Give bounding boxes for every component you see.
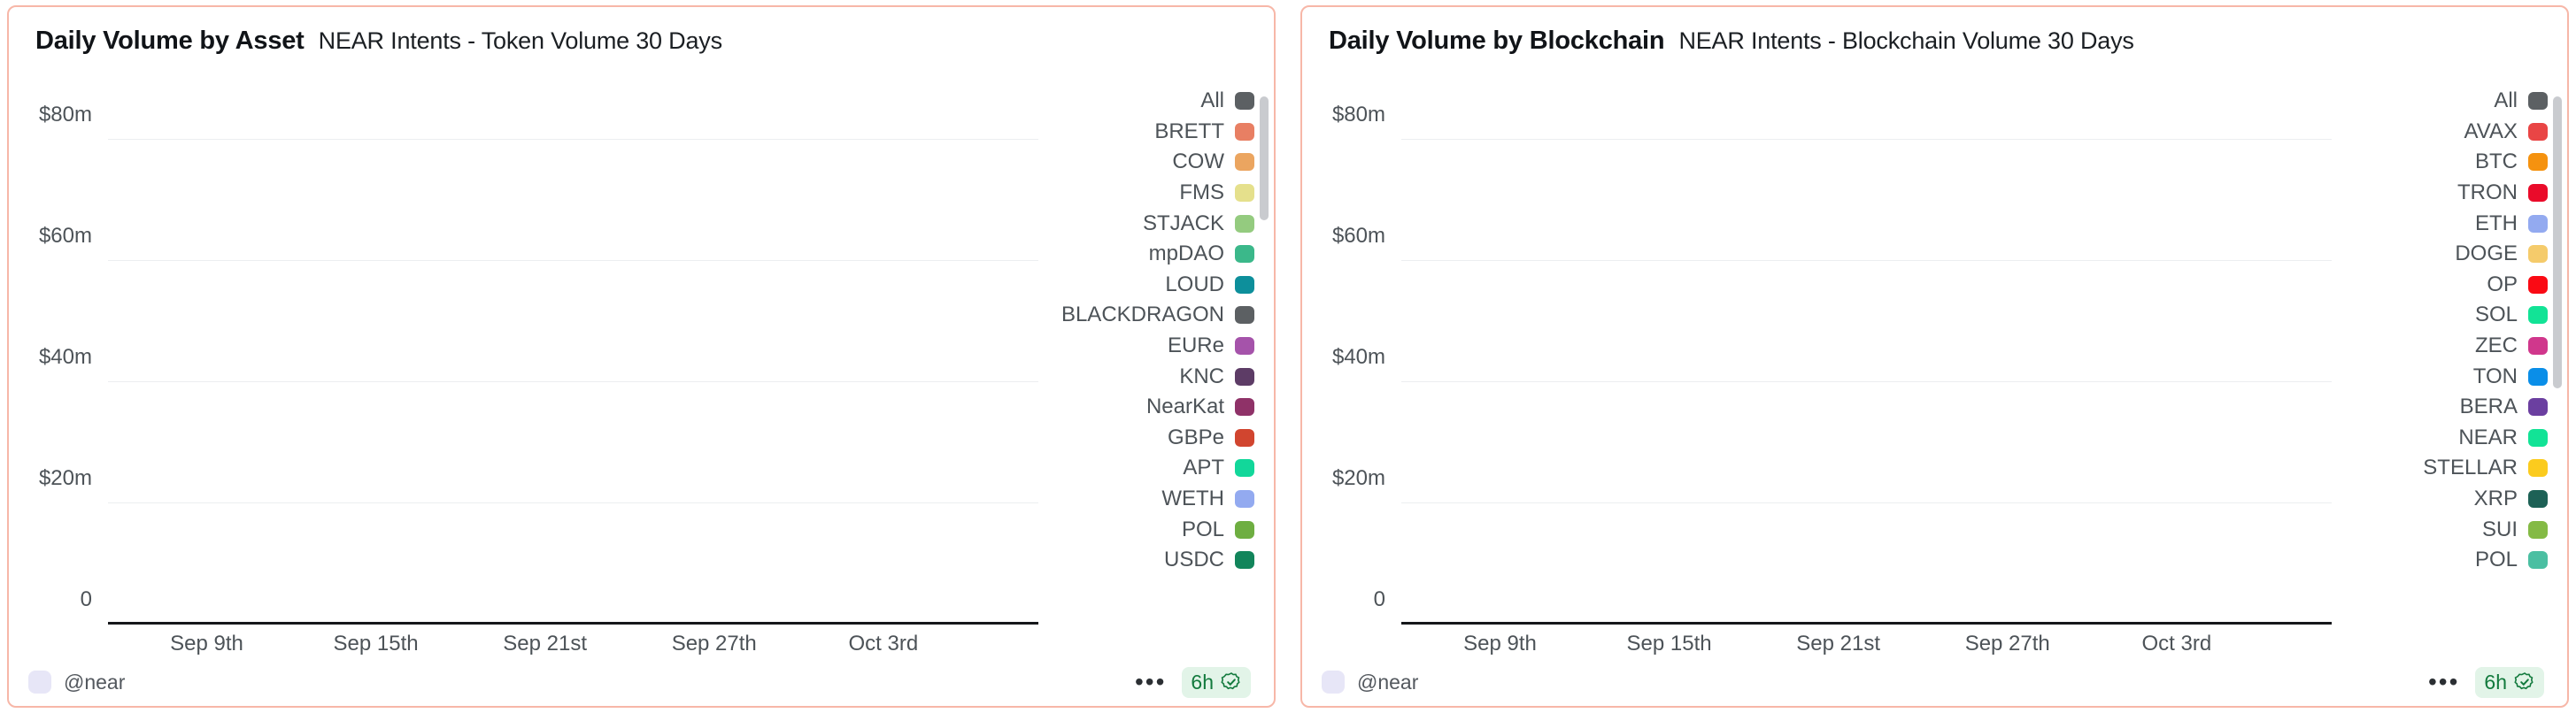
legend-item[interactable]: NearKat bbox=[1054, 392, 1254, 423]
legend-color-swatch bbox=[1235, 123, 1254, 141]
legend-item-label: OP bbox=[2487, 272, 2518, 297]
refresh-interval-badge[interactable]: 6h bbox=[1182, 667, 1251, 698]
refresh-interval-label: 6h bbox=[1191, 671, 1214, 694]
refresh-interval-label-blockchain: 6h bbox=[2484, 671, 2507, 694]
page-title-blockchain: Daily Volume by Blockchain bbox=[1329, 27, 1664, 56]
legend-item-label: WETH bbox=[1161, 487, 1224, 511]
legend-color-swatch bbox=[1235, 184, 1254, 202]
card-header-asset: Daily Volume by Asset NEAR Intents - Tok… bbox=[9, 7, 1274, 59]
card-footer-asset: @near ••• 6h bbox=[9, 658, 1274, 706]
legend-item[interactable]: COW bbox=[1054, 147, 1254, 178]
legend-color-swatch bbox=[2528, 398, 2548, 416]
legend-color-swatch bbox=[2528, 153, 2548, 171]
legend-item[interactable]: All bbox=[2348, 86, 2548, 117]
legend-color-swatch bbox=[1235, 306, 1254, 324]
legend-color-swatch bbox=[2528, 184, 2548, 202]
page-title: Daily Volume by Asset bbox=[35, 27, 305, 56]
legend-item[interactable]: TON bbox=[2348, 361, 2548, 392]
legend-item[interactable]: ETH bbox=[2348, 208, 2548, 239]
legend-color-swatch bbox=[2528, 337, 2548, 355]
legend-list-blockchain[interactable]: AllAVAXBTCTRONETHDOGEOPSOLZECTONBERANEAR… bbox=[2348, 86, 2548, 652]
legend-color-swatch bbox=[2528, 215, 2548, 233]
legend-item[interactable]: STJACK bbox=[1054, 208, 1254, 239]
legend-item[interactable]: BERA bbox=[2348, 392, 2548, 423]
avatar-blockchain bbox=[1322, 671, 1345, 694]
legend-color-swatch bbox=[2528, 368, 2548, 386]
legend-item[interactable]: XRP bbox=[2348, 484, 2548, 515]
legend-item-label: All bbox=[1200, 88, 1224, 113]
legend-color-swatch bbox=[1235, 368, 1254, 386]
card-body-asset: 0$20m$40m$60m$80m Sep 9thSep 15thSep 21s… bbox=[9, 59, 1274, 706]
author-name: @near bbox=[64, 671, 125, 694]
x-axis-tick-label: Oct 3rd bbox=[2141, 632, 2211, 656]
card-footer-blockchain: @near ••• 6h bbox=[1302, 658, 2567, 706]
legend-item[interactable]: DOGE bbox=[2348, 239, 2548, 270]
legend-item[interactable]: POL bbox=[1054, 514, 1254, 545]
more-options-button[interactable]: ••• bbox=[1135, 675, 1166, 690]
legend-item-label: ZEC bbox=[2475, 333, 2518, 358]
legend-item-label: STELLAR bbox=[2423, 456, 2518, 480]
legend-item-label: NEAR bbox=[2458, 425, 2518, 450]
y-axis-tick-label: 0 bbox=[81, 587, 92, 612]
legend-asset[interactable]: AllBRETTCOWFMSSTJACKmpDAOLOUDBLACKDRAGON… bbox=[1054, 59, 1274, 706]
legend-color-swatch bbox=[1235, 551, 1254, 569]
author-block-blockchain[interactable]: @near bbox=[1322, 671, 1418, 694]
legend-item-label: POL bbox=[2475, 548, 2518, 572]
author-block[interactable]: @near bbox=[28, 671, 125, 694]
legend-item[interactable]: All bbox=[1054, 86, 1254, 117]
refresh-interval-badge-blockchain[interactable]: 6h bbox=[2475, 667, 2544, 698]
legend-color-swatch bbox=[1235, 276, 1254, 294]
footer-controls-blockchain: ••• 6h bbox=[2428, 667, 2544, 698]
x-axis-line bbox=[1401, 622, 2332, 625]
x-axis-tick-label: Sep 21st bbox=[503, 632, 587, 656]
y-axis-tick-label: $40m bbox=[39, 345, 92, 370]
legend-item[interactable]: ZEC bbox=[2348, 331, 2548, 362]
plot-area-blockchain: 0$20m$40m$60m$80m Sep 9thSep 15thSep 21s… bbox=[1302, 59, 2348, 706]
legend-color-swatch bbox=[1235, 215, 1254, 233]
y-axis-tick-label: $80m bbox=[1332, 103, 1385, 127]
y-axis-labels-blockchain: 0$20m$40m$60m$80m bbox=[1302, 79, 1394, 625]
x-axis-tick-label: Sep 9th bbox=[170, 632, 243, 656]
legend-item-label: BRETT bbox=[1154, 119, 1224, 144]
legend-item[interactable]: SOL bbox=[2348, 300, 2548, 331]
legend-color-swatch bbox=[2528, 521, 2548, 539]
legend-item[interactable]: BLACKDRAGON bbox=[1054, 300, 1254, 331]
legend-item[interactable]: KNC bbox=[1054, 361, 1254, 392]
legend-item[interactable]: TRON bbox=[2348, 178, 2548, 209]
legend-item[interactable]: SUI bbox=[2348, 514, 2548, 545]
x-axis-tick-label: Sep 27th bbox=[672, 632, 757, 656]
legend-item-label: TRON bbox=[2457, 180, 2518, 205]
legend-item-label: KNC bbox=[1179, 364, 1224, 389]
legend-color-swatch bbox=[2528, 459, 2548, 477]
legend-item-label: NearKat bbox=[1146, 395, 1224, 419]
legend-scrollbar[interactable] bbox=[1260, 96, 1269, 220]
bars-container bbox=[1401, 79, 2332, 625]
x-axis-tick-label: Sep 15th bbox=[334, 632, 419, 656]
legend-color-swatch bbox=[2528, 123, 2548, 141]
verified-check-icon-blockchain bbox=[2514, 671, 2535, 693]
legend-item[interactable]: OP bbox=[2348, 270, 2548, 301]
legend-color-swatch bbox=[2528, 92, 2548, 110]
legend-item-label: USDC bbox=[1164, 548, 1224, 572]
legend-item[interactable]: LOUD bbox=[1054, 270, 1254, 301]
x-axis-line bbox=[108, 622, 1038, 625]
legend-item[interactable]: EURe bbox=[1054, 331, 1254, 362]
legend-color-swatch bbox=[1235, 429, 1254, 447]
legend-item-label: POL bbox=[1182, 517, 1224, 542]
legend-item[interactable]: WETH bbox=[1054, 484, 1254, 515]
y-axis-tick-label: $80m bbox=[39, 103, 92, 127]
legend-item-label: DOGE bbox=[2455, 241, 2518, 266]
legend-item-label: LOUD bbox=[1165, 272, 1224, 297]
legend-item-label: BLACKDRAGON bbox=[1061, 303, 1224, 327]
legend-item[interactable]: BRETT bbox=[1054, 117, 1254, 148]
legend-item-label: EURe bbox=[1168, 333, 1224, 358]
dashboard-board: Daily Volume by Asset NEAR Intents - Tok… bbox=[0, 0, 2576, 713]
legend-color-swatch bbox=[1235, 92, 1254, 110]
legend-item-label: APT bbox=[1183, 456, 1224, 480]
chart-card-blockchain: Daily Volume by Blockchain NEAR Intents … bbox=[1300, 5, 2569, 708]
x-axis-labels: Sep 9thSep 15thSep 21stSep 27thOct 3rd bbox=[108, 632, 1038, 662]
legend-color-swatch bbox=[2528, 490, 2548, 508]
legend-item[interactable]: mpDAO bbox=[1054, 239, 1254, 270]
legend-item[interactable]: AVAX bbox=[2348, 117, 2548, 148]
footer-controls: ••• 6h bbox=[1135, 667, 1251, 698]
legend-color-swatch bbox=[2528, 245, 2548, 263]
y-axis-tick-label: $20m bbox=[1332, 466, 1385, 491]
legend-item[interactable]: GBPe bbox=[1054, 423, 1254, 454]
legend-item-label: TON bbox=[2473, 364, 2518, 389]
plot-area-asset: 0$20m$40m$60m$80m Sep 9thSep 15thSep 21s… bbox=[9, 59, 1054, 706]
x-axis-tick-label: Sep 21st bbox=[1796, 632, 1880, 656]
y-axis-tick-label: $20m bbox=[39, 466, 92, 491]
legend-color-swatch bbox=[2528, 551, 2548, 569]
legend-item[interactable]: APT bbox=[1054, 453, 1254, 484]
chart-card-asset: Daily Volume by Asset NEAR Intents - Tok… bbox=[7, 5, 1276, 708]
legend-item-label: STJACK bbox=[1143, 211, 1224, 236]
card-body-blockchain: 0$20m$40m$60m$80m Sep 9thSep 15thSep 21s… bbox=[1302, 59, 2567, 706]
card-subtitle-blockchain: NEAR Intents - Blockchain Volume 30 Days bbox=[1678, 27, 2133, 55]
x-axis-tick-label: Sep 27th bbox=[1965, 632, 2050, 656]
legend-color-swatch bbox=[1235, 398, 1254, 416]
legend-item-label: XRP bbox=[2474, 487, 2518, 511]
x-axis-tick-label: Sep 9th bbox=[1463, 632, 1537, 656]
legend-item-label: BERA bbox=[2460, 395, 2518, 419]
avatar bbox=[28, 671, 51, 694]
legend-color-swatch bbox=[2528, 276, 2548, 294]
bars-container bbox=[108, 79, 1038, 625]
y-axis-tick-label: $40m bbox=[1332, 345, 1385, 370]
legend-item[interactable]: POL bbox=[2348, 545, 2548, 576]
legend-item-label: All bbox=[2494, 88, 2518, 113]
y-axis-tick-label: $60m bbox=[39, 224, 92, 249]
legend-color-swatch bbox=[1235, 521, 1254, 539]
bar-chart-asset[interactable] bbox=[108, 79, 1038, 625]
legend-item[interactable]: FMS bbox=[1054, 178, 1254, 209]
legend-item-label: SUI bbox=[2482, 517, 2518, 542]
legend-item-label: AVAX bbox=[2464, 119, 2518, 144]
legend-item-label: GBPe bbox=[1168, 425, 1224, 450]
legend-item-label: FMS bbox=[1179, 180, 1224, 205]
legend-color-swatch bbox=[1235, 490, 1254, 508]
legend-color-swatch bbox=[1235, 153, 1254, 171]
y-axis-labels: 0$20m$40m$60m$80m bbox=[9, 79, 101, 625]
legend-color-swatch bbox=[1235, 459, 1254, 477]
legend-item-label: mpDAO bbox=[1149, 241, 1224, 266]
legend-blockchain[interactable]: AllAVAXBTCTRONETHDOGEOPSOLZECTONBERANEAR… bbox=[2348, 59, 2567, 706]
more-options-button-blockchain[interactable]: ••• bbox=[2428, 675, 2459, 690]
x-axis-tick-label: Sep 15th bbox=[1627, 632, 1712, 656]
legend-item[interactable]: NEAR bbox=[2348, 423, 2548, 454]
bar-chart-blockchain[interactable] bbox=[1401, 79, 2332, 625]
card-subtitle: NEAR Intents - Token Volume 30 Days bbox=[319, 27, 722, 55]
legend-item-label: SOL bbox=[2475, 303, 2518, 327]
legend-item[interactable]: STELLAR bbox=[2348, 453, 2548, 484]
legend-color-swatch bbox=[1235, 337, 1254, 355]
legend-item[interactable]: USDC bbox=[1054, 545, 1254, 576]
legend-color-swatch bbox=[2528, 429, 2548, 447]
legend-list[interactable]: AllBRETTCOWFMSSTJACKmpDAOLOUDBLACKDRAGON… bbox=[1054, 86, 1254, 652]
x-axis-labels-blockchain: Sep 9thSep 15thSep 21stSep 27thOct 3rd bbox=[1401, 632, 2332, 662]
legend-color-swatch bbox=[2528, 306, 2548, 324]
author-name-blockchain: @near bbox=[1357, 671, 1418, 694]
legend-item-label: BTC bbox=[2475, 149, 2518, 174]
card-header-blockchain: Daily Volume by Blockchain NEAR Intents … bbox=[1302, 7, 2567, 59]
legend-color-swatch bbox=[1235, 245, 1254, 263]
legend-item-label: COW bbox=[1172, 149, 1224, 174]
y-axis-tick-label: $60m bbox=[1332, 224, 1385, 249]
legend-item-label: ETH bbox=[2475, 211, 2518, 236]
legend-scrollbar-blockchain[interactable] bbox=[2553, 96, 2562, 388]
y-axis-tick-label: 0 bbox=[1374, 587, 1385, 612]
legend-item[interactable]: BTC bbox=[2348, 147, 2548, 178]
verified-check-icon bbox=[1221, 671, 1242, 693]
x-axis-tick-label: Oct 3rd bbox=[848, 632, 918, 656]
